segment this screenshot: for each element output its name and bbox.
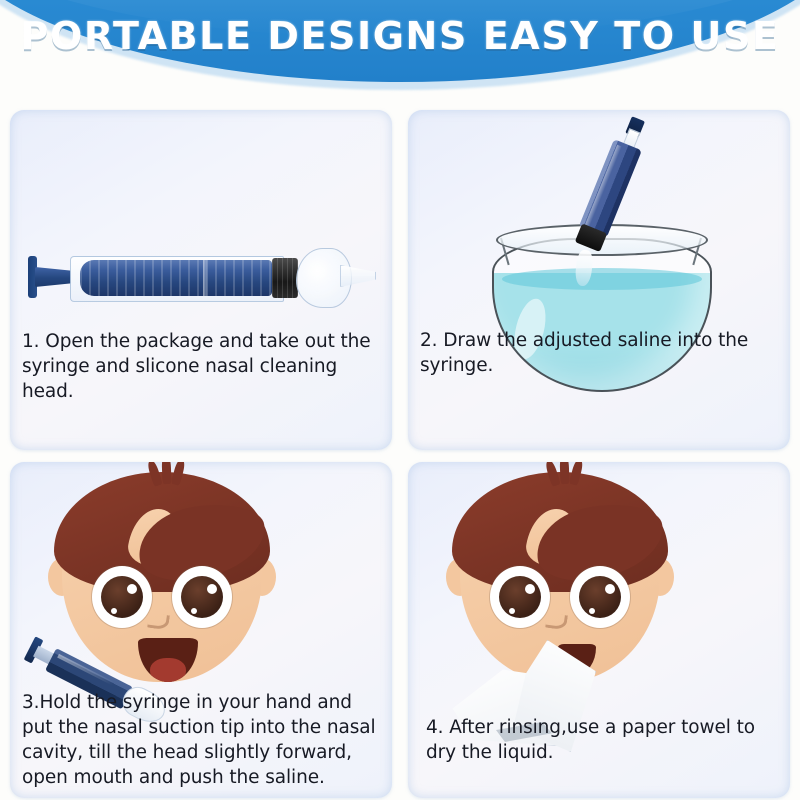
- syringe-collar: [272, 258, 298, 298]
- steps-grid: 1. Open the package and take out the syr…: [0, 108, 800, 800]
- step-2-caption: 2. Draw the adjusted saline into the syr…: [408, 328, 790, 378]
- step-panel-2: 2. Draw the adjusted saline into the syr…: [408, 110, 790, 450]
- step-4-caption: 4. After rinsing,use a paper towel to dr…: [408, 715, 790, 765]
- water-surface: [502, 268, 702, 290]
- eye-highlight: [525, 584, 535, 594]
- step-panel-1: 1. Open the package and take out the syr…: [10, 110, 392, 450]
- syringe-horizontal: [28, 238, 374, 316]
- tongue: [150, 658, 186, 682]
- eye-highlight: [605, 584, 615, 594]
- syringe-blue-barrel: [579, 139, 642, 237]
- eye-right: [172, 566, 232, 628]
- page-title: PORTABLE DESIGNS EASY TO USE: [0, 14, 800, 58]
- hair-tuft: [161, 462, 171, 484]
- iris: [101, 576, 143, 618]
- iris: [181, 576, 223, 618]
- header-banner: PORTABLE DESIGNS EASY TO USE: [0, 0, 800, 110]
- iris: [579, 576, 621, 618]
- eye-highlight: [207, 584, 217, 594]
- hair-tuft: [559, 462, 569, 484]
- syringe-blue-barrel: [80, 260, 272, 296]
- eye-left: [490, 566, 550, 628]
- step-panel-3: 3.Hold the syringe in your hand and put …: [10, 462, 392, 798]
- eye-highlight: [111, 608, 117, 614]
- eye-highlight: [191, 608, 197, 614]
- step-1-caption: 1. Open the package and take out the syr…: [10, 329, 392, 404]
- step-3-caption: 3.Hold the syringe in your hand and put …: [10, 690, 392, 790]
- eye-left: [92, 566, 152, 628]
- eye-highlight: [127, 584, 137, 594]
- step-2-illustration: [408, 110, 790, 450]
- step-panel-4: 4. After rinsing,use a paper towel to dr…: [408, 462, 790, 798]
- eye-highlight: [589, 608, 595, 614]
- iris: [499, 576, 541, 618]
- silicone-nozzle: [340, 265, 376, 287]
- eye-highlight: [509, 608, 515, 614]
- eye-right: [570, 566, 630, 628]
- syringe-plunger-rod: [35, 267, 71, 287]
- infographic-page: PORTABLE DESIGNS EASY TO USE 1. Open the…: [0, 0, 800, 800]
